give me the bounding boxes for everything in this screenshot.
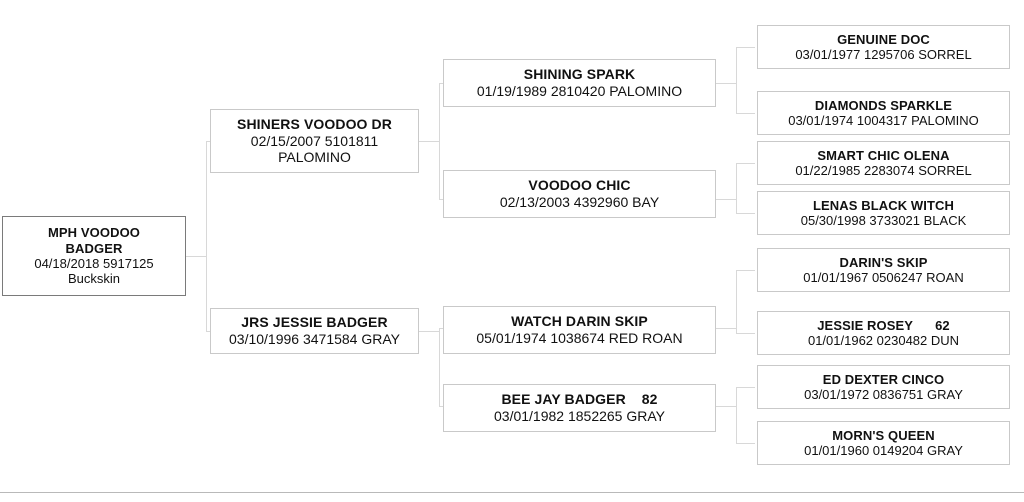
- connector-gen2-vc-stem: [716, 199, 736, 200]
- node-details: 03/01/1972 0836751 GRAY: [804, 387, 963, 402]
- node-details: 02/13/2003 4392960 BAY: [500, 194, 659, 211]
- node-name: MORN'S QUEEN: [832, 428, 935, 443]
- node-gen3-ed-dexter-cinco[interactable]: ED DEXTER CINCO 03/01/1972 0836751 GRAY: [757, 365, 1010, 409]
- node-gen1-shiners-voodoo-dr[interactable]: SHINERS VOODOO DR 02/15/2007 5101811 PAL…: [210, 109, 419, 173]
- node-details: 03/10/1996 3471584 GRAY: [229, 331, 400, 348]
- node-details: 01/01/1962 0230482 DUN: [808, 333, 959, 348]
- pedigree-chart: MPH VOODOO BADGER 04/18/2018 5917125 Buc…: [0, 0, 1024, 502]
- node-gen3-diamonds-sparkle[interactable]: DIAMONDS SPARKLE 03/01/1974 1004317 PALO…: [757, 91, 1010, 135]
- node-gen3-genuine-doc[interactable]: GENUINE DOC 03/01/1977 1295706 SORREL: [757, 25, 1010, 69]
- connector-gen2-bottom-spine: [439, 328, 440, 406]
- node-details: 02/15/2007 5101811: [251, 133, 378, 150]
- connector-gen3-spine-2: [736, 163, 737, 213]
- connector-gen3-morns-queen: [736, 443, 755, 444]
- node-name-line1: MPH VOODOO: [48, 225, 140, 240]
- node-details: 03/01/1974 1004317 PALOMINO: [788, 113, 979, 128]
- connector-gen3-spine-3: [736, 270, 737, 333]
- node-details: 05/30/1998 3733021 BLACK: [801, 213, 967, 228]
- connector-gen1-dam-stem: [419, 331, 439, 332]
- node-name: BEE JAY BADGER 82: [501, 391, 657, 408]
- node-gen2-bee-jay-badger[interactable]: BEE JAY BADGER 82 03/01/1982 1852265 GRA…: [443, 384, 716, 432]
- node-gen3-morns-queen[interactable]: MORN'S QUEEN 01/01/1960 0149204 GRAY: [757, 421, 1010, 465]
- connector-gen1-spine: [206, 141, 207, 331]
- connector-gen2-bjb-stem: [716, 406, 736, 407]
- node-details: 01/22/1985 2283074 SORREL: [795, 163, 971, 178]
- node-color: Buckskin: [68, 271, 120, 286]
- connector-gen3-lenas-black-witch: [736, 213, 755, 214]
- connector-gen3-ed-dexter-cinco: [736, 387, 755, 388]
- connector-gen3-spine-4: [736, 387, 737, 443]
- connector-gen3-diamonds-sparkle: [736, 113, 755, 114]
- node-details: 01/01/1967 0506247 ROAN: [803, 270, 963, 285]
- node-color: PALOMINO: [278, 149, 351, 166]
- node-name-line2: BADGER: [66, 241, 123, 256]
- node-details: 05/01/1974 1038674 RED ROAN: [476, 330, 682, 347]
- node-gen2-voodoo-chic[interactable]: VOODOO CHIC 02/13/2003 4392960 BAY: [443, 170, 716, 218]
- node-gen3-darins-skip[interactable]: DARIN'S SKIP 01/01/1967 0506247 ROAN: [757, 248, 1010, 292]
- node-name: JESSIE ROSEY 62: [817, 318, 950, 333]
- node-name: VOODOO CHIC: [528, 177, 630, 194]
- node-name: JRS JESSIE BADGER: [241, 314, 387, 331]
- node-details: 03/01/1982 1852265 GRAY: [494, 408, 665, 425]
- connector-gen3-smart-chic-olena: [736, 163, 755, 164]
- connector-gen3-darins-skip: [736, 270, 755, 271]
- node-gen3-lenas-black-witch[interactable]: LENAS BLACK WITCH 05/30/1998 3733021 BLA…: [757, 191, 1010, 235]
- connector-gen2-ss-stem: [716, 83, 736, 84]
- node-name: SMART CHIC OLENA: [817, 148, 949, 163]
- node-gen3-jessie-rosey[interactable]: JESSIE ROSEY 62 01/01/1962 0230482 DUN: [757, 311, 1010, 355]
- node-name: DARIN'S SKIP: [839, 255, 927, 270]
- connector-gen3-spine-1: [736, 47, 737, 113]
- node-name: SHINERS VOODOO DR: [237, 116, 392, 133]
- node-name: WATCH DARIN SKIP: [511, 313, 648, 330]
- node-details: 01/19/1989 2810420 PALOMINO: [477, 83, 682, 100]
- node-name: DIAMONDS SPARKLE: [815, 98, 952, 113]
- connector-gen1-sire-stem: [419, 141, 439, 142]
- node-gen1-jrs-jessie-badger[interactable]: JRS JESSIE BADGER 03/10/1996 3471584 GRA…: [210, 308, 419, 354]
- node-gen2-watch-darin-skip[interactable]: WATCH DARIN SKIP 05/01/1974 1038674 RED …: [443, 306, 716, 354]
- node-name: ED DEXTER CINCO: [823, 372, 944, 387]
- node-name: SHINING SPARK: [524, 66, 636, 83]
- node-gen3-smart-chic-olena[interactable]: SMART CHIC OLENA 01/22/1985 2283074 SORR…: [757, 141, 1010, 185]
- node-details: 03/01/1977 1295706 SORREL: [795, 47, 971, 62]
- connector-gen2-top-spine: [439, 83, 440, 199]
- node-name: GENUINE DOC: [837, 32, 930, 47]
- connector-root-stem: [186, 256, 206, 257]
- node-gen2-shining-spark[interactable]: SHINING SPARK 01/19/1989 2810420 PALOMIN…: [443, 59, 716, 107]
- connector-gen3-genuine-doc: [736, 47, 755, 48]
- bottom-divider: [0, 492, 1024, 493]
- connector-gen2-wds-stem: [716, 328, 736, 329]
- node-name: LENAS BLACK WITCH: [813, 198, 954, 213]
- node-root-mph-voodoo-badger[interactable]: MPH VOODOO BADGER 04/18/2018 5917125 Buc…: [2, 216, 186, 296]
- node-details: 04/18/2018 5917125: [34, 256, 153, 271]
- connector-gen3-jessie-rosey: [736, 333, 755, 334]
- node-details: 01/01/1960 0149204 GRAY: [804, 443, 963, 458]
